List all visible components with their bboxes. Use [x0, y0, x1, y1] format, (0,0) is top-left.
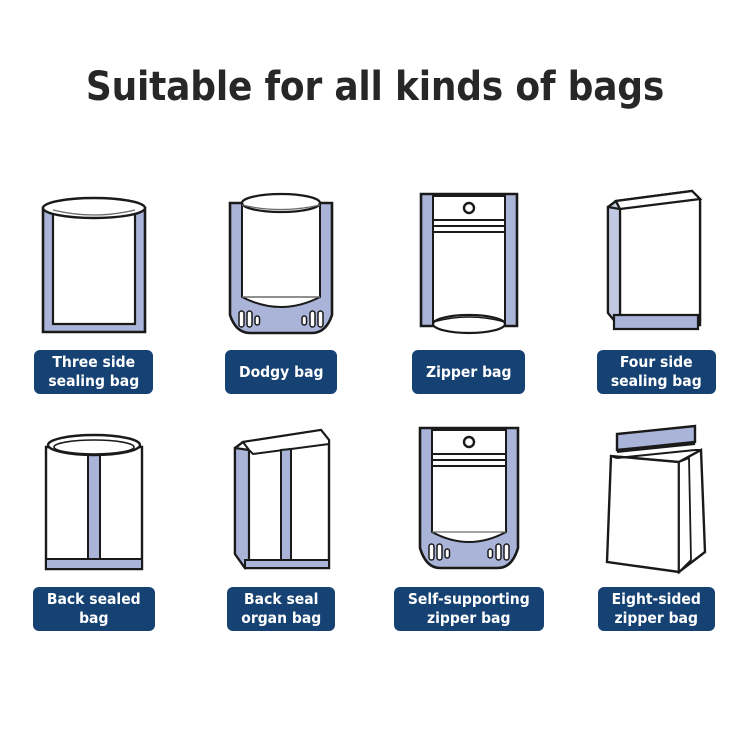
- self-supporting-zipper-bag-illustration: [386, 407, 551, 575]
- dodgy-bag-illustration: [199, 170, 364, 338]
- bag-label-four-side-sealing-bag: Four side sealing bag: [597, 350, 716, 394]
- bag-card-eight-sided-zipper-bag[interactable]: Eight-sided zipper bag: [563, 407, 750, 631]
- zipper-bag-illustration: [386, 170, 551, 338]
- bag-label-zipper-bag: Zipper bag: [412, 350, 525, 394]
- bag-label-back-seal-organ-bag: Back seal organ bag: [227, 587, 335, 631]
- bag-card-four-side-sealing-bag[interactable]: Four side sealing bag: [563, 170, 750, 394]
- bag-label-dodgy-bag: Dodgy bag: [225, 350, 337, 394]
- three-side-sealing-bag-illustration: [11, 170, 176, 338]
- four-side-sealing-bag-illustration: [574, 170, 739, 338]
- bag-card-three-side-sealing-bag[interactable]: Three side sealing bag: [0, 170, 188, 394]
- bag-label-back-sealed-bag: Back sealed bag: [33, 587, 155, 631]
- bag-label-three-side-sealing-bag: Three side sealing bag: [34, 350, 153, 394]
- bag-card-back-seal-organ-bag[interactable]: Back seal organ bag: [188, 407, 376, 631]
- back-seal-organ-bag-illustration: [199, 407, 364, 575]
- bag-card-zipper-bag: Zipper bag: [375, 170, 563, 394]
- bag-card-back-sealed-bag[interactable]: Back sealed bag: [0, 407, 188, 631]
- page-title: Suitable for all kinds of bags: [0, 64, 750, 110]
- eight-sided-zipper-bag-illustration: [574, 407, 739, 575]
- bag-types-infographic: Suitable for all kinds of bags Three sid…: [0, 0, 750, 750]
- bag-types-grid: Three side sealing bag: [0, 170, 750, 631]
- bag-card-dodgy-bag[interactable]: Dodgy bag: [188, 170, 376, 394]
- bag-types-row-2: Back sealed bag Back seal organ bag: [0, 407, 750, 631]
- bag-card-self-supporting-zipper-bag[interactable]: Self-supporting zipper bag: [375, 407, 563, 631]
- bag-label-self-supporting-zipper-bag: Self-supporting zipper bag: [394, 587, 544, 631]
- bag-label-eight-sided-zipper-bag: Eight-sided zipper bag: [598, 587, 715, 631]
- bag-types-row-1: Three side sealing bag: [0, 170, 750, 394]
- back-sealed-bag-illustration: [11, 407, 176, 575]
